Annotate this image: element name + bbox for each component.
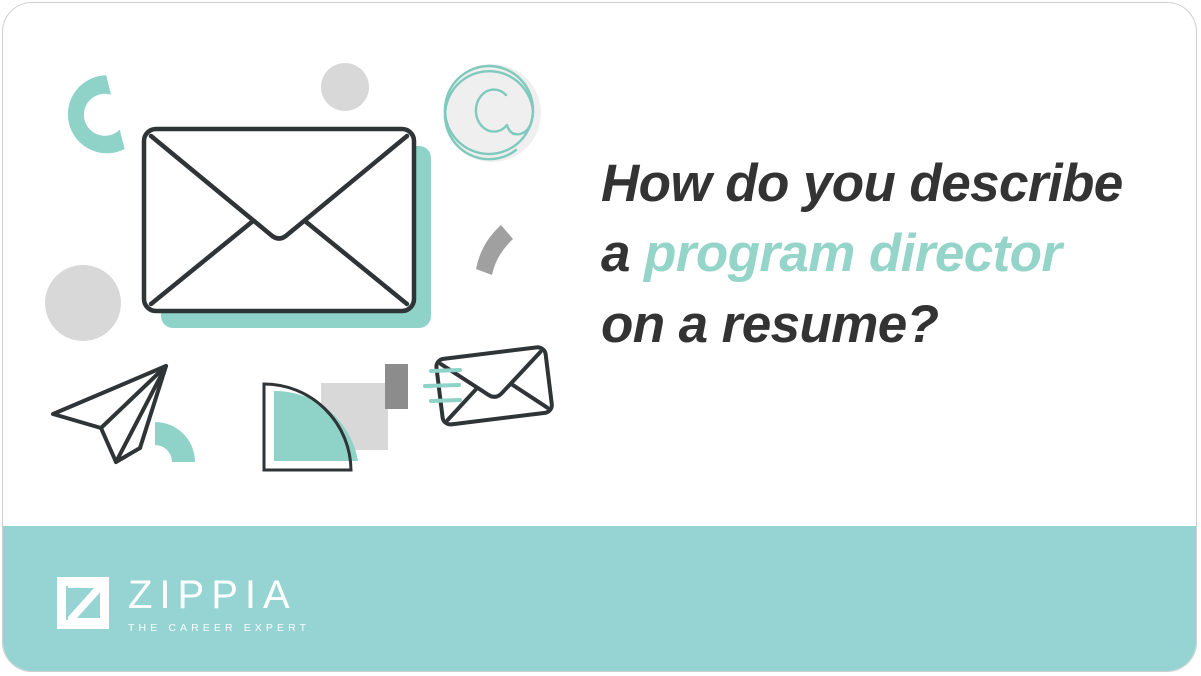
page-title: How do you describe a program director o… [601,149,1161,360]
main-envelope [144,129,431,328]
logo-tagline: THE CAREER EXPERT [128,623,310,634]
zippia-logo[interactable]: ZIPPIA THE CAREER EXPERT [55,573,310,634]
headline-line-2-prefix: a [601,224,644,283]
gray-rectangle [385,364,408,409]
zippia-z-mark [55,575,111,631]
headline-line-3: on a resume? [601,290,1161,360]
teal-quarter-arc [155,422,195,462]
promo-card: How do you describe a program director o… [2,2,1197,672]
headline-accent-phrase: program director [644,224,1061,283]
teal-c-arc [60,74,125,161]
logo-wordmark: ZIPPIA THE CAREER EXPERT [128,575,310,634]
gray-circle-small [321,63,369,111]
headline-line-2: a program director [601,219,1161,289]
logo-name: ZIPPIA [128,575,310,615]
paper-plane [53,366,166,462]
headline-line-1: How do you describe [601,149,1161,219]
gray-circle-large [45,265,121,341]
gray-wedge [476,225,513,275]
email-envelopes-illustration [3,3,603,533]
at-sign-badge [443,64,541,162]
